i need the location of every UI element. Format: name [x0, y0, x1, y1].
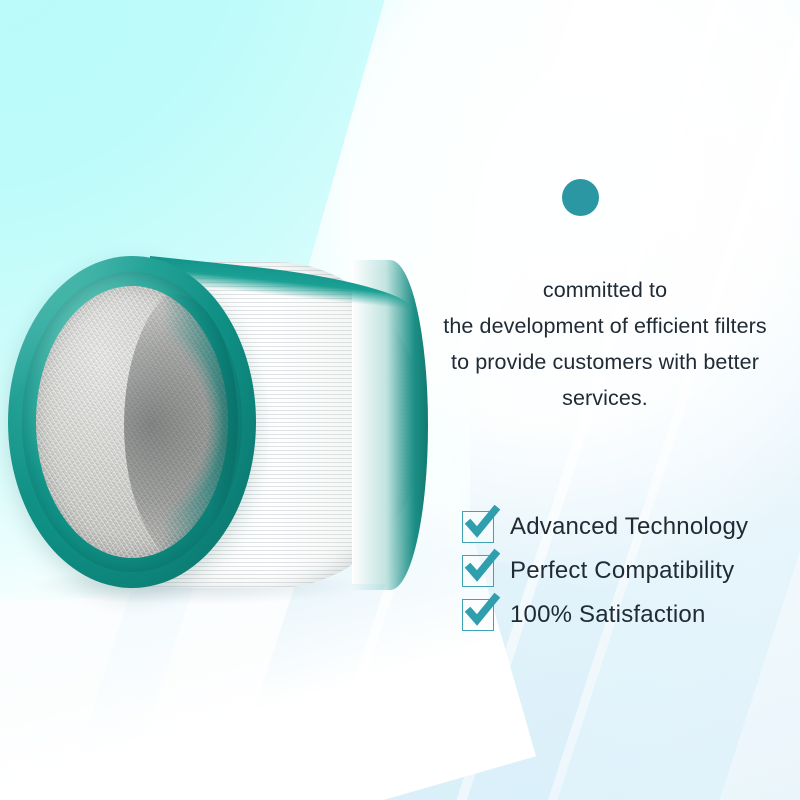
feature-label: Advanced Technology: [510, 513, 748, 541]
copy-line-3: to provide customers with better: [395, 344, 800, 380]
teal-accent-dot: [562, 179, 599, 216]
hepa-air-purifier-filter: [0, 250, 440, 600]
marketing-copy: committed to the development of efficien…: [395, 272, 800, 416]
feature-label: Perfect Compatibility: [510, 557, 734, 585]
copy-line-1: committed to: [395, 272, 800, 308]
check-icon: [462, 555, 494, 587]
product-banner: committed to the development of efficien…: [0, 0, 800, 800]
check-icon: [462, 511, 494, 543]
feature-item-advanced-technology: Advanced Technology: [462, 505, 748, 549]
feature-label: 100% Satisfaction: [510, 601, 706, 629]
feature-item-satisfaction: 100% Satisfaction: [462, 593, 748, 637]
check-icon: [462, 599, 494, 631]
copy-line-2: the development of efficient filters: [395, 308, 800, 344]
feature-list: Advanced Technology Perfect Compatibilit…: [462, 505, 748, 637]
copy-line-4: services.: [395, 380, 800, 416]
feature-item-perfect-compatibility: Perfect Compatibility: [462, 549, 748, 593]
inner-teal-lip: [112, 294, 238, 552]
